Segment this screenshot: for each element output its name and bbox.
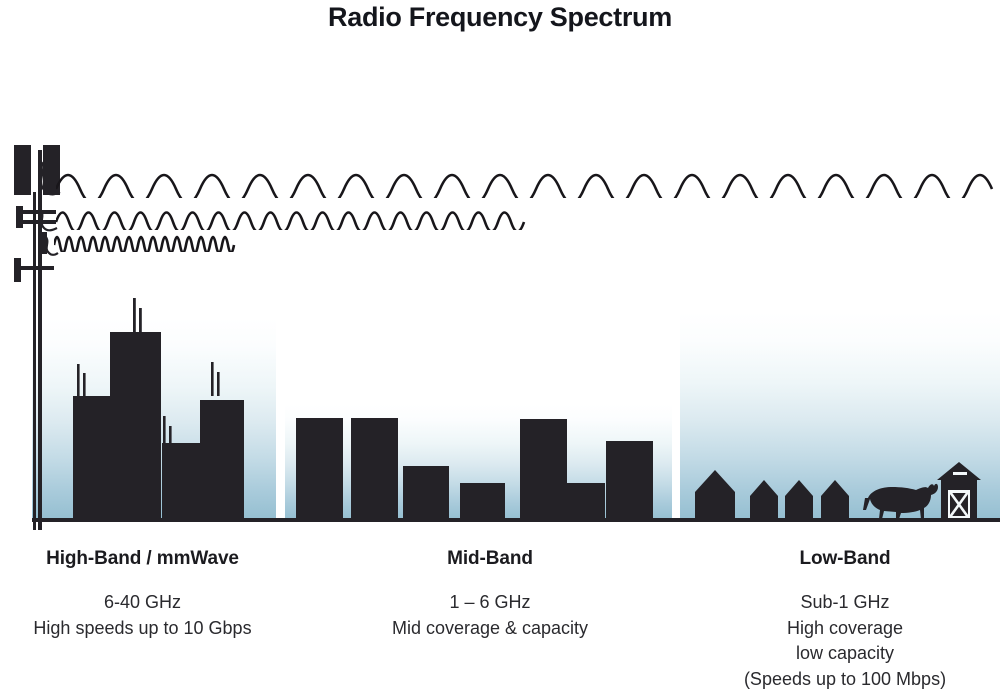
band-frequency-low: Sub-1 GHz (700, 590, 990, 616)
page-title: Radio Frequency Spectrum (0, 2, 1000, 33)
band-capacity-low: low capacity (700, 641, 990, 667)
band-heading-high: High-Band / mmWave (0, 548, 285, 570)
infographic-canvas: Radio Frequency Spectrum (0, 0, 1000, 700)
band-description-low: Sub-1 GHz High coverage low capacity (Sp… (700, 590, 990, 692)
band-heading-low: Low-Band (700, 548, 990, 570)
band-speed-mid: Mid coverage & capacity (340, 616, 640, 642)
house-large-icon (695, 470, 735, 519)
house-small-icon (750, 480, 778, 519)
barn-icon (937, 462, 981, 519)
band-frequency-high: 6-40 GHz (0, 590, 285, 616)
band-heading-mid: Mid-Band (340, 548, 640, 570)
ground-baseline (32, 518, 1000, 522)
band-description-mid: 1 – 6 GHz Mid coverage & capacity (340, 590, 640, 641)
band-speed-high: High speeds up to 10 Gbps (0, 616, 285, 642)
skyline-mid-band (285, 402, 675, 522)
band-speed-low: (Speeds up to 100 Mbps) (700, 667, 990, 693)
band-description-high: 6-40 GHz High speeds up to 10 Gbps (0, 590, 285, 641)
band-frequency-mid: 1 – 6 GHz (340, 590, 640, 616)
house-small-icon (785, 480, 813, 519)
band-coverage-low: High coverage (700, 616, 990, 642)
wave-long-wavelength (56, 152, 1000, 198)
wave-short-wavelength (54, 224, 246, 252)
cow-icon (863, 484, 938, 519)
house-small-icon (821, 480, 849, 519)
skyline-high-band (46, 288, 276, 523)
